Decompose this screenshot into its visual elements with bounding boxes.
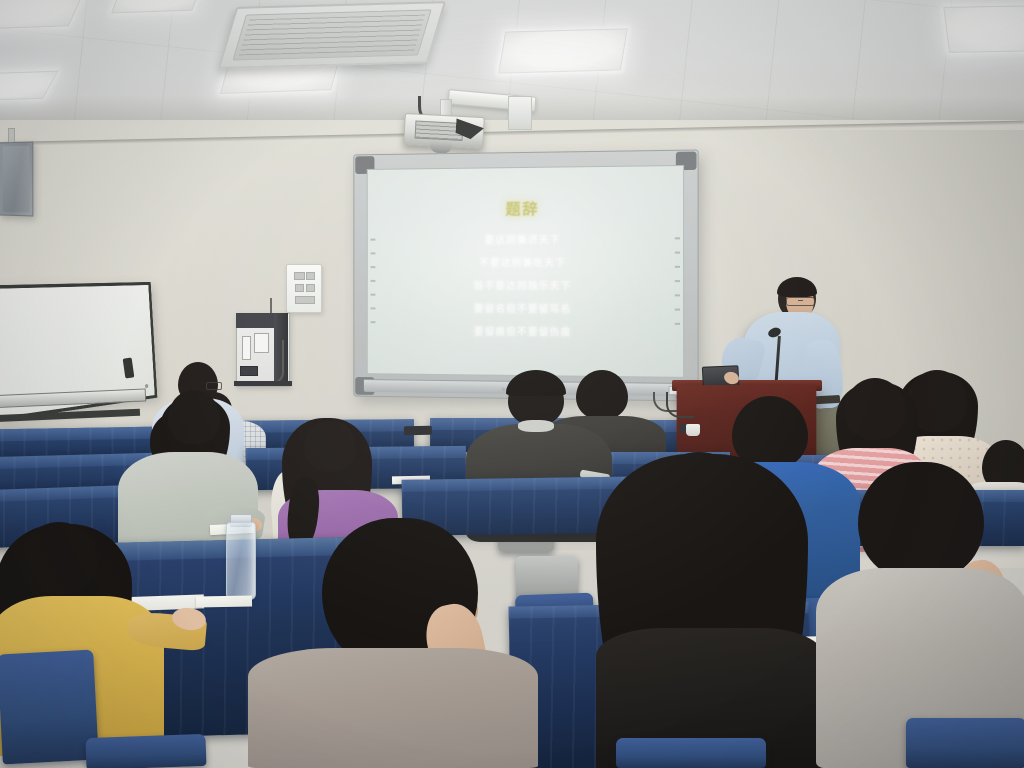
audience-member-head bbox=[304, 420, 356, 472]
paper-sheet bbox=[196, 596, 252, 608]
projection-screen[interactable]: 题辞 要达则兼济天下 不要达则兼吃天下 既不要达则独乐天下 要留名但不要留骂名 … bbox=[353, 149, 698, 401]
control-button[interactable] bbox=[294, 272, 305, 280]
cup-icon bbox=[686, 424, 700, 436]
control-button[interactable] bbox=[306, 272, 315, 280]
screen-surface: 题辞 要达则兼济天下 不要达则兼吃天下 既不要达则独乐天下 要留名但不要留骂名 … bbox=[367, 165, 684, 378]
chair[interactable] bbox=[906, 718, 1024, 768]
cabinet-shelf bbox=[234, 381, 292, 386]
water-bottle-icon[interactable] bbox=[226, 522, 256, 600]
wall-speaker-icon bbox=[0, 141, 33, 216]
led-panel-light bbox=[943, 5, 1024, 53]
audience-member-head bbox=[168, 390, 220, 444]
audience-member-head bbox=[858, 462, 984, 580]
slide-line-3: 既不要达则独乐天下 bbox=[474, 278, 572, 292]
ceiling-ac-cassette-icon bbox=[218, 1, 446, 69]
control-button[interactable] bbox=[295, 284, 304, 292]
equipment-slot bbox=[240, 366, 258, 376]
chair[interactable] bbox=[616, 738, 766, 768]
audience-member-head bbox=[644, 452, 754, 556]
control-button[interactable] bbox=[295, 296, 315, 304]
equipment-slot bbox=[242, 336, 251, 360]
shirt-collar bbox=[518, 420, 554, 432]
slide-line-1: 要达则兼济天下 bbox=[485, 232, 561, 246]
phone-icon[interactable] bbox=[404, 426, 432, 435]
glasses-icon bbox=[206, 382, 222, 390]
screen-side-buttons[interactable] bbox=[371, 239, 376, 327]
lecture-hall-photo: 题辞 要达则兼济天下 不要达则兼吃天下 既不要达则独乐天下 要留名但不要留骂名 … bbox=[0, 0, 1024, 768]
led-panel-light bbox=[498, 28, 628, 73]
slide-line-5: 要留痕但不要留伤痕 bbox=[474, 324, 572, 339]
projector-lens bbox=[430, 139, 453, 153]
presentation-slide: 题辞 要达则兼济天下 不要达则兼吃天下 既不要达则独乐天下 要留名但不要留骂名 … bbox=[368, 166, 683, 377]
glasses-icon bbox=[786, 297, 815, 306]
slide-title: 题辞 bbox=[506, 198, 540, 219]
wall-control-panel[interactable] bbox=[286, 264, 322, 313]
slide-line-4: 要留名但不要留骂名 bbox=[474, 301, 572, 315]
audience-member-head bbox=[20, 522, 98, 594]
audience-member-body bbox=[248, 648, 538, 768]
slide-line-2: 不要达则兼吃天下 bbox=[479, 255, 566, 269]
chair[interactable] bbox=[0, 650, 99, 765]
audience-member-head bbox=[576, 370, 628, 420]
equipment-cable bbox=[262, 340, 284, 384]
screen-side-buttons[interactable] bbox=[675, 237, 680, 329]
projector-ceiling-plate bbox=[508, 96, 532, 130]
audience-member-head bbox=[844, 378, 906, 440]
control-button[interactable] bbox=[306, 284, 315, 292]
chair[interactable] bbox=[85, 734, 206, 768]
microphone-cable bbox=[666, 392, 694, 418]
